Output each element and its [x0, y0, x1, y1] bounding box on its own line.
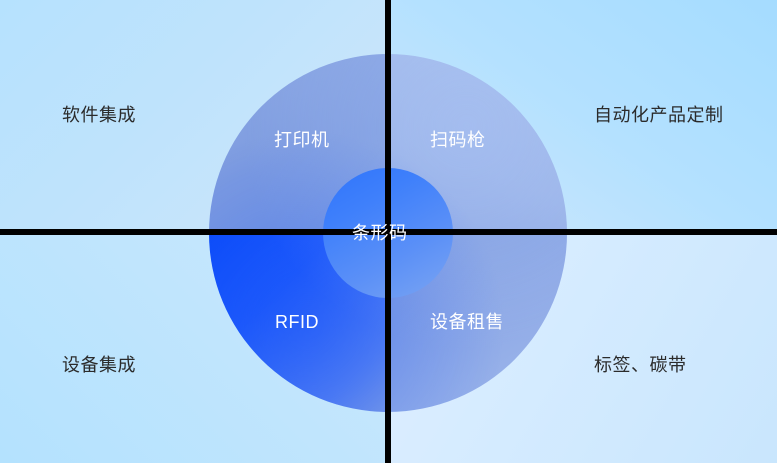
outer-label-software-integration: 软件集成 — [62, 106, 136, 124]
ring-label-scanner: 扫码枪 — [430, 131, 486, 149]
outer-label-device-integration: 设备集成 — [62, 356, 136, 374]
center-core-label: 条形码 — [352, 224, 408, 242]
ring-label-rfid: RFID — [275, 313, 319, 331]
ring-label-rental: 设备租售 — [430, 313, 504, 331]
outer-label-labels-ribbons: 标签、碳带 — [594, 356, 687, 374]
ring-label-printer: 打印机 — [274, 131, 330, 149]
outer-label-automation-customization: 自动化产品定制 — [594, 106, 724, 124]
diagram-canvas: 软件集成 自动化产品定制 设备集成 标签、碳带 打印机 扫码枪 RFID 设备租… — [0, 0, 777, 463]
